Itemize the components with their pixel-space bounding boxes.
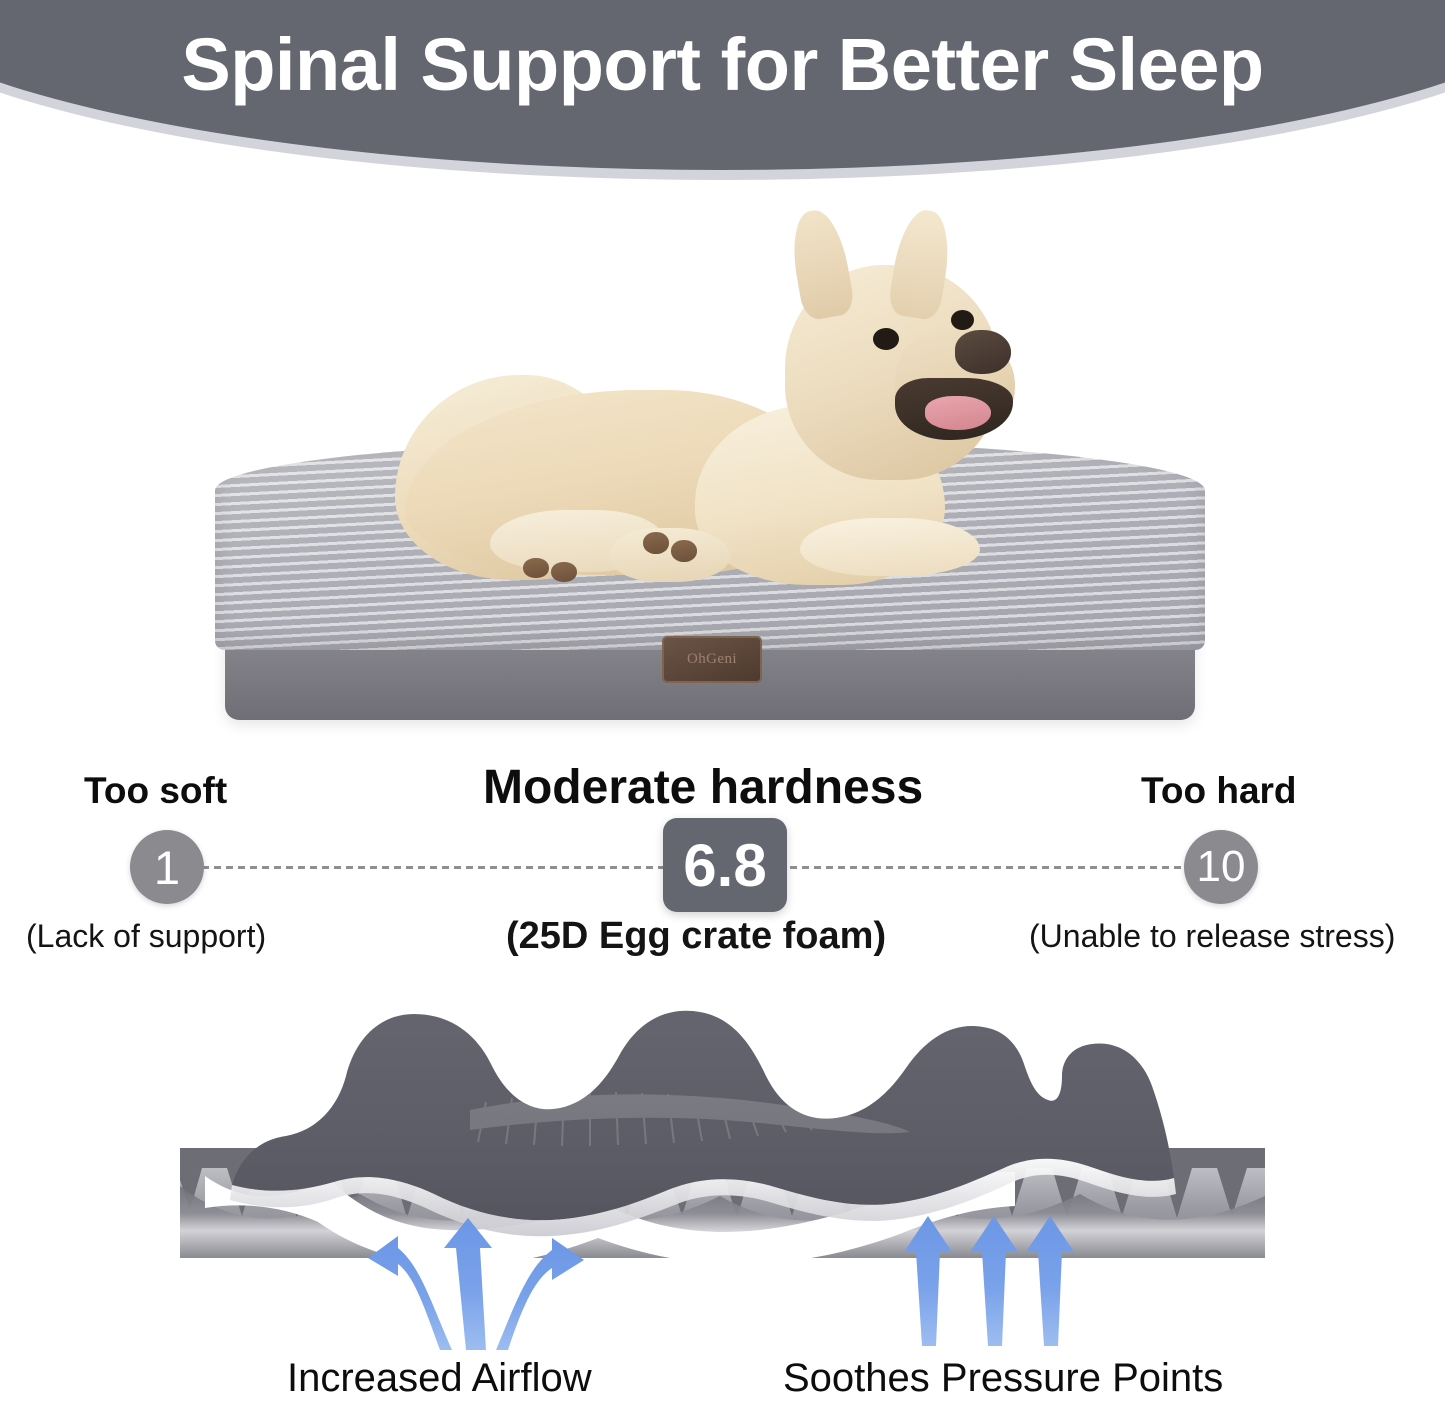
- page-title: Spinal Support for Better Sleep: [0, 28, 1445, 102]
- scale-sublabel-release-stress: (Unable to release stress): [1029, 920, 1395, 952]
- dog-photo: [395, 210, 1025, 610]
- dog-toe-pad: [523, 558, 549, 578]
- cross-section-diagram: Increased Airflow Soothes Pressure Point…: [0, 980, 1445, 1418]
- dog-tongue: [925, 396, 991, 430]
- dog-nose: [955, 330, 1011, 374]
- dog-front-paw: [800, 518, 980, 576]
- cross-section-svg: [0, 980, 1445, 1350]
- brand-tag-label: OhGeni: [687, 651, 737, 668]
- caption-increased-airflow: Increased Airflow: [287, 1358, 592, 1398]
- brand-tag: OhGeni: [662, 636, 762, 683]
- caption-soothes-pressure-points: Soothes Pressure Points: [783, 1358, 1223, 1398]
- scale-label-too-soft: Too soft: [84, 772, 227, 809]
- dog-toe-pad: [551, 562, 577, 582]
- dog-eye-right: [951, 310, 974, 330]
- scale-marker-max: 10: [1184, 830, 1258, 904]
- scale-marker-min: 1: [130, 830, 204, 904]
- dog-toe-pad: [643, 532, 669, 554]
- pressure-arrows: [904, 1216, 1074, 1346]
- dog-toe-pad: [671, 540, 697, 562]
- dog-mid-paw: [610, 528, 730, 582]
- hardness-scale: Too soft Moderate hardness Too hard 1 6.…: [0, 762, 1445, 972]
- scale-marker-current: 6.8: [663, 818, 787, 912]
- header-banner: Spinal Support for Better Sleep: [0, 0, 1445, 215]
- scale-sublabel-foam-type: (25D Egg crate foam): [506, 917, 886, 955]
- scale-sublabel-lack-of-support: (Lack of support): [26, 920, 266, 952]
- dog-ear-left: [786, 206, 856, 321]
- scale-label-too-hard: Too hard: [1141, 772, 1297, 809]
- product-photo: OhGeni: [0, 200, 1445, 770]
- scale-label-moderate: Moderate hardness: [483, 764, 923, 812]
- dog-eye-left: [873, 328, 899, 350]
